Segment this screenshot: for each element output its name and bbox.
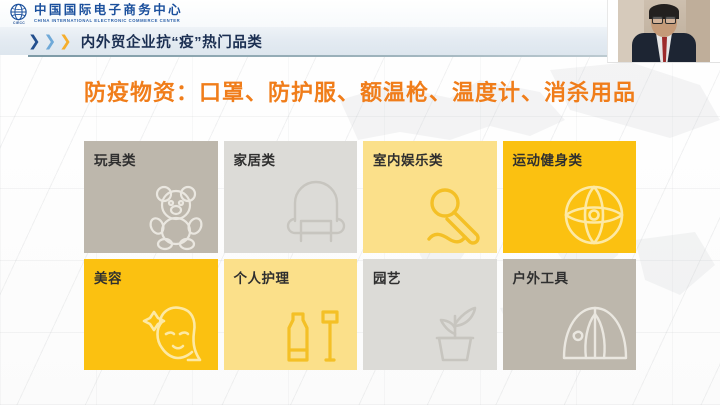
tile-label: 美容 [94,267,122,287]
category-tile-sports-fitness[interactable]: 运动健身类 [503,141,637,253]
category-tile-outdoor-tools[interactable]: 户外工具 [503,259,637,371]
tile-label: 户外工具 [513,267,569,287]
brand-name-chinese: 中国国际电子商务中心 [34,3,183,17]
slide-subtitle: 内外贸企业抗“疫”热门品类 [81,31,263,52]
ciecc-globe-logo-icon: CIECC [8,3,29,24]
beach-ball-icon [558,177,632,251]
category-tile-beauty[interactable]: 美容 [84,259,218,371]
category-tile-indoor-entertainment[interactable]: 室内娱乐类 [363,141,497,253]
brand-logo-block: CIECC 中国国际电子商务中心 CHINA INTERNATIONAL ELE… [8,3,183,24]
tile-label: 个人护理 [234,267,290,287]
slide-headline: 防疫物资：口罩、防护服、额温枪、温度计、消杀用品 [0,75,720,107]
category-tile-grid: 玩具类 家居类 [84,141,636,370]
category-tile-home[interactable]: 家居类 [224,141,358,253]
presentation-slide: CIECC 中国国际电子商务中心 CHINA INTERNATIONAL ELE… [0,0,720,405]
glasses-icon [652,16,676,22]
logo-abbr: CIECC [8,21,30,25]
tent-icon [558,294,632,368]
tile-label: 运动健身类 [513,149,583,169]
armchair-icon [279,177,353,251]
tile-label: 园艺 [373,267,401,287]
chevron-right-icon-3: ❯ [59,34,72,49]
woman-face-icon [140,294,214,368]
teddy-bear-icon [140,177,214,251]
category-tile-toys[interactable]: 玩具类 [84,141,218,253]
potted-plant-icon [419,294,493,368]
tile-label: 家居类 [234,149,276,169]
category-tile-gardening[interactable]: 园艺 [363,259,497,371]
brand-name-english: CHINA INTERNATIONAL ELECTRONIC COMMERCE … [34,18,183,24]
category-tile-personal-care[interactable]: 个人护理 [224,259,358,371]
microphone-icon [419,177,493,251]
chevron-right-icon-1: ❯ [28,34,41,49]
title-divider-rule [28,55,688,57]
presenter-video-feed[interactable] [607,0,720,63]
toiletries-icon [279,294,353,368]
tile-label: 室内娱乐类 [373,149,443,169]
chevron-right-icon-2: ❯ [44,34,57,49]
tile-label: 玩具类 [94,149,136,169]
